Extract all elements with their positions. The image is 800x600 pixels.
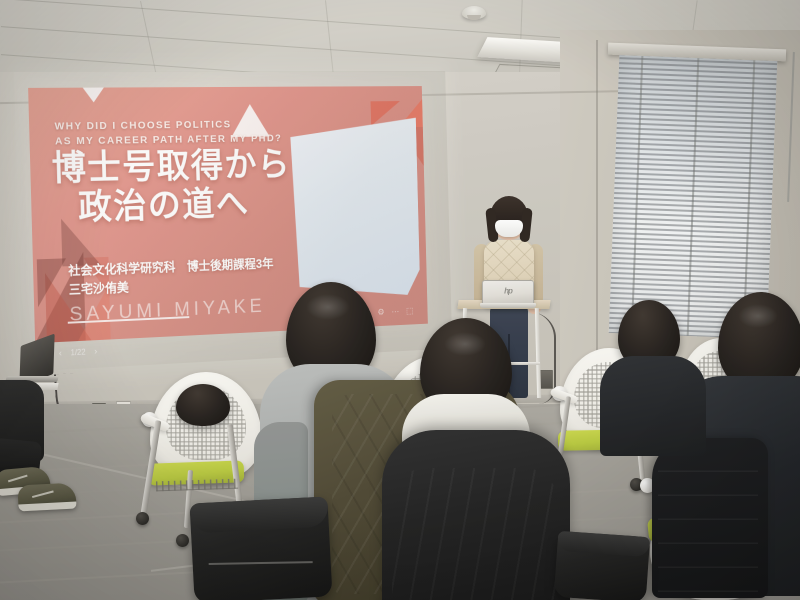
- backpack-front-left[interactable]: [189, 496, 332, 600]
- audience-back-left-head: [176, 384, 230, 426]
- slide-title-line1: 博士号取得から: [51, 146, 291, 188]
- audience-right-far: [600, 300, 710, 440]
- slide-counter: 1/22: [70, 347, 85, 357]
- seminar-room-photo: WHY DID I CHOOSE POLITICS AS MY CAREER P…: [0, 0, 800, 600]
- smoke-detector-icon: [462, 6, 486, 19]
- next-slide-button[interactable]: ›: [94, 346, 97, 356]
- chair-caster-2: [176, 534, 189, 547]
- prev-slide-button[interactable]: ‹: [59, 348, 62, 358]
- chair-caster-1: [136, 512, 149, 525]
- slide-title-line2: 政治の道へ: [78, 184, 305, 229]
- slide-title: 博士号取得から 政治の道へ: [51, 146, 305, 229]
- audience-right-far-jacket: [600, 356, 706, 456]
- bag-front-right[interactable]: [554, 531, 650, 600]
- slide-navigation[interactable]: ‹ 1/22 ›: [59, 346, 98, 358]
- audience-back-left: [176, 384, 230, 432]
- shoe-right: [17, 483, 76, 512]
- face-mask: [495, 220, 523, 237]
- slide-white-triangle-small: [83, 88, 105, 103]
- slide-eyebrow: WHY DID I CHOOSE POLITICS AS MY CAREER P…: [54, 117, 282, 148]
